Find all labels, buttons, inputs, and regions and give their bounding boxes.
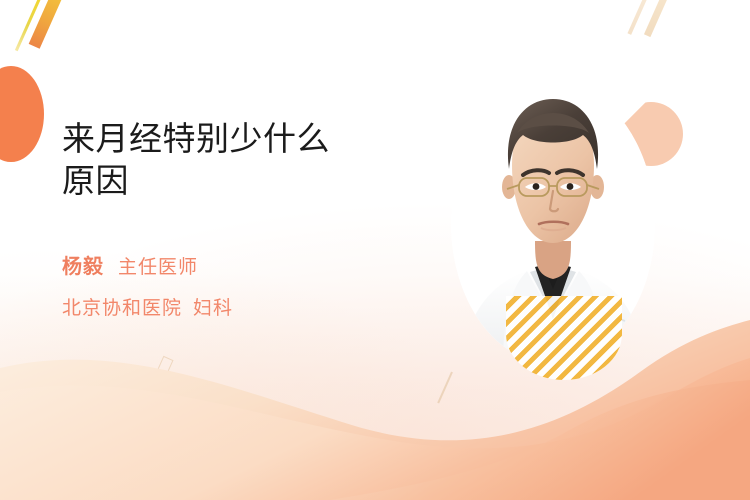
doctor-name: 杨毅: [62, 250, 104, 279]
page-title: 来月经特别少什么 原因: [62, 118, 422, 202]
wave-front: [0, 380, 750, 500]
striped-disc-fill: [506, 296, 622, 380]
doctor-byline: 杨毅 主任医师: [62, 250, 422, 279]
striped-disc-decoration: [506, 296, 622, 380]
doctor-title: 主任医师: [118, 252, 198, 279]
video-cover-card: 来月经特别少什么 原因 杨毅 主任医师 北京协和医院 妇科: [0, 0, 750, 500]
doctor-hospital: 北京协和医院: [62, 293, 182, 320]
doctor-affiliation: 北京协和医院 妇科: [62, 293, 422, 320]
doctor-department: 妇科: [193, 293, 233, 320]
text-block: 来月经特别少什么 原因 杨毅 主任医师 北京协和医院 妇科: [62, 118, 422, 320]
